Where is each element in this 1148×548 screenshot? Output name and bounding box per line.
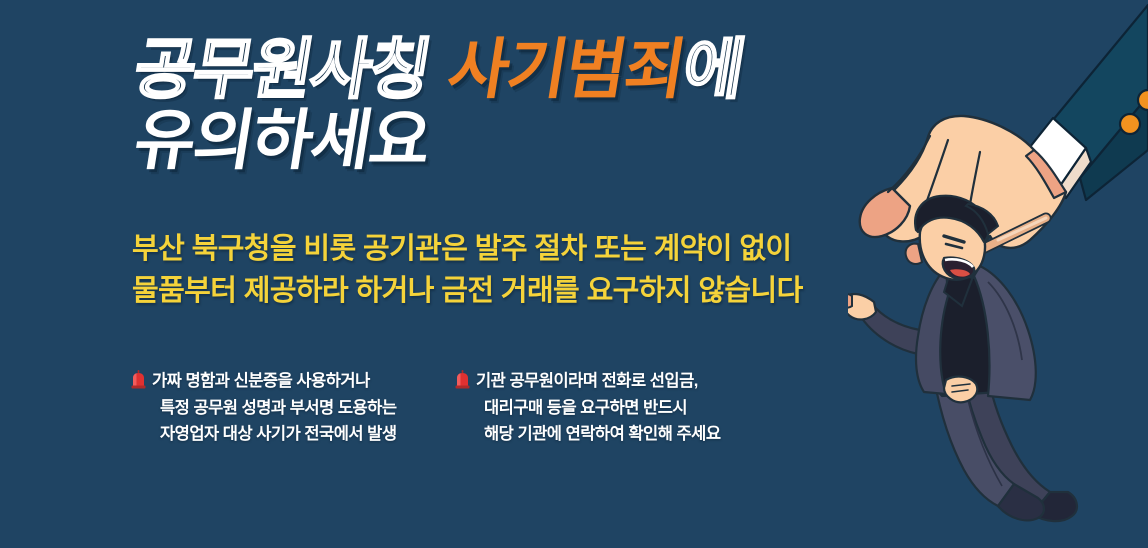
white-cuff-icon [1026,118,1091,198]
suit-sleeve-icon [1044,5,1148,200]
note-line: 기관 공무원이라며 전화로 선입금, [476,368,721,395]
notes-block: 가짜 명함과 신분증을 사용하거나 특정 공무원 성명과 부서명 도용하는 자영… [130,368,754,448]
note-line: 가짜 명함과 신분증을 사용하거나 [152,368,397,395]
siren-icon [130,370,147,389]
note-text: 기관 공무원이라며 전화로 선입금, 대리구매 등을 요구하면 반드시 해당 기… [476,368,721,448]
headline-white-text: 유의하세요 [129,103,434,177]
note-item: 가짜 명함과 신분증을 사용하거나 특정 공무원 성명과 부서명 도용하는 자영… [130,368,430,448]
content-layer: 공무원사칭사기범죄에 유의하세요 부산 북구청을 비롯 공기관은 발주 절차 또… [0,0,860,548]
note-line: 해당 기관에 연락하여 확인해 주세요 [476,421,721,448]
headline-line-2: 유의하세요 [130,109,920,172]
siren-icon [454,370,471,389]
orange-button-icon [1120,90,1148,134]
note-item: 기관 공무원이라며 전화로 선입금, 대리구매 등을 요구하면 반드시 해당 기… [454,368,754,448]
headline-outline-text: 공무원사칭 [129,32,434,106]
headline-line-1: 공무원사칭사기범죄에 [130,38,920,101]
body-line-1: 부산 북구청을 비롯 공기관은 발주 절차 또는 계약이 없이 [132,228,852,270]
note-line: 자영업자 대상 사기가 전국에서 발생 [152,421,397,448]
long-nose-icon [956,218,1046,262]
public-notice-banner: 공무원사칭사기범죄에 유의하세요 부산 북구청을 비롯 공기관은 발주 절차 또… [0,0,1148,548]
headline-block: 공무원사칭사기범죄에 유의하세요 [130,38,910,173]
note-line: 대리구매 등을 요구하면 반드시 [476,395,721,422]
note-line: 특정 공무원 성명과 부서명 도용하는 [152,395,397,422]
puppet-figure-icon [848,196,1077,521]
headline-orange-text: 사기범죄 [443,32,690,106]
body-block: 부산 북구청을 비롯 공기관은 발주 절차 또는 계약이 없이 물품부터 제공하… [132,228,852,312]
body-line-2: 물품부터 제공하라 하거나 금전 거래를 요구하지 않습니다 [132,270,852,312]
note-text: 가짜 명함과 신분증을 사용하거나 특정 공무원 성명과 부서명 도용하는 자영… [152,368,397,448]
headline-outline-tail: 에 [678,32,748,106]
